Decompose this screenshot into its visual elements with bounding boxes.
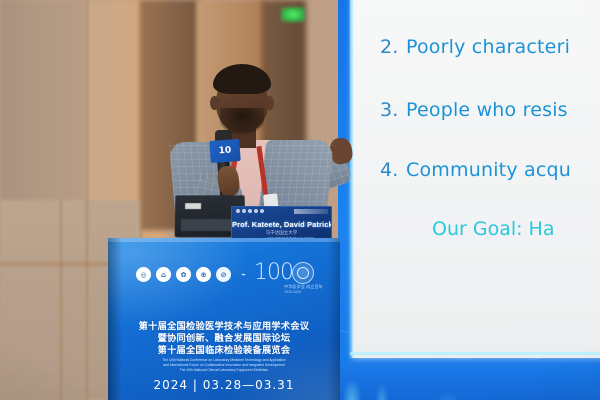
laptop-sticker bbox=[185, 203, 201, 209]
conference-photo-scene: to reduce 2. Poorly characteri 3. People… bbox=[0, 0, 600, 400]
screen-bottom-decoration bbox=[338, 360, 600, 400]
podium-date: 2024 | 03.28—03.31 bbox=[108, 378, 340, 392]
podium-top-edge bbox=[108, 238, 340, 242]
podium-title-line-2: 暨协同创新、融合发展国际论坛 bbox=[108, 332, 340, 344]
slide-bullet-3: 3. People who resis bbox=[380, 99, 568, 121]
podium-title-block: 第十届全国检验医学技术与应用学术会议 暨协同创新、融合发展国际论坛 第十届全国临… bbox=[108, 320, 340, 356]
podium-left-shadow bbox=[108, 238, 122, 400]
wall-seam-1 bbox=[86, 0, 88, 400]
exit-sign-icon bbox=[281, 7, 305, 22]
slide-goal-line: Our Goal: Ha bbox=[432, 218, 555, 240]
slide-bullet-3-text: People who resis bbox=[406, 99, 568, 121]
sponsor-logo-5-icon: ⊘ bbox=[216, 267, 231, 282]
anniversary-number: 100 bbox=[254, 260, 293, 285]
wall-seam-3 bbox=[60, 200, 62, 400]
nameplate-banner-logo bbox=[294, 209, 328, 214]
speaker-ear-right bbox=[265, 96, 274, 110]
slide-bullet-4: 4. Community acqu bbox=[380, 159, 571, 181]
slide-bullet-4-number: 4. bbox=[380, 159, 406, 181]
anniversary-logo: 100 中华医学会 成立百年 1915-2024 bbox=[254, 258, 330, 302]
nameplate-logo-dots bbox=[236, 209, 264, 213]
speaker-ear-left bbox=[210, 96, 219, 110]
sponsor-logo-2-icon: ⌂ bbox=[156, 267, 171, 282]
slide-bullet-3-number: 3. bbox=[380, 99, 406, 121]
podium-title-line-3: 第十届全国临床检验装备展览会 bbox=[108, 344, 340, 356]
slide-bullet-2-number: 2. bbox=[380, 36, 406, 58]
nameplate-dot-1 bbox=[236, 209, 240, 213]
microphone-flag: 10 bbox=[209, 139, 240, 163]
podium-title-line-1: 第十届全国检验医学技术与应用学术会议 bbox=[108, 320, 340, 332]
speaker-hair bbox=[213, 64, 271, 94]
projection-screen: to reduce 2. Poorly characteri 3. People… bbox=[338, 0, 600, 400]
nameplate-dot-5 bbox=[260, 209, 264, 213]
slide-bullet-4-text: Community acqu bbox=[406, 159, 571, 181]
sponsor-logo-1-icon: ◎ bbox=[136, 267, 151, 282]
slide-bullet-2-text: Poorly characteri bbox=[406, 36, 570, 58]
nameplate-dot-2 bbox=[242, 209, 246, 213]
nameplate-speaker-name: Prof. Kateete, David Patrick bbox=[232, 220, 331, 229]
slide-bullet-2: 2. Poorly characteri bbox=[380, 36, 570, 58]
podium-banner: ◎ ⌂ ✿ ⊕ ⊘ ⌁ 100 中华医学会 成立百年 1915-2024 第十届… bbox=[108, 238, 340, 400]
microphone-flag-label: 10 bbox=[218, 146, 231, 156]
sponsor-logo-3-icon: ✿ bbox=[176, 267, 191, 282]
podium-sponsor-logos: ◎ ⌂ ✿ ⊕ ⊘ ⌁ bbox=[136, 267, 251, 282]
anniversary-years: 1915-2024 bbox=[284, 290, 301, 294]
nameplate-dot-4 bbox=[254, 209, 258, 213]
sponsor-logo-4-icon: ⊕ bbox=[196, 267, 211, 282]
slide-content: to reduce 2. Poorly characteri 3. People… bbox=[352, 0, 600, 358]
podium-subtitle-line-3: The 10th National Clinical Laboratory Eq… bbox=[108, 368, 340, 373]
podium-subtitle-block: The 10th National Conference on Laborato… bbox=[108, 358, 340, 373]
podium-right-shadow bbox=[328, 238, 340, 400]
slide-edge-glow-bottom bbox=[350, 352, 600, 355]
sponsor-logo-6-icon: ⌁ bbox=[236, 267, 251, 282]
anniversary-emblem-icon bbox=[292, 262, 314, 284]
nameplate-affiliation-cn: 乌干达国立大学 bbox=[232, 230, 331, 236]
nameplate-dot-3 bbox=[248, 209, 252, 213]
